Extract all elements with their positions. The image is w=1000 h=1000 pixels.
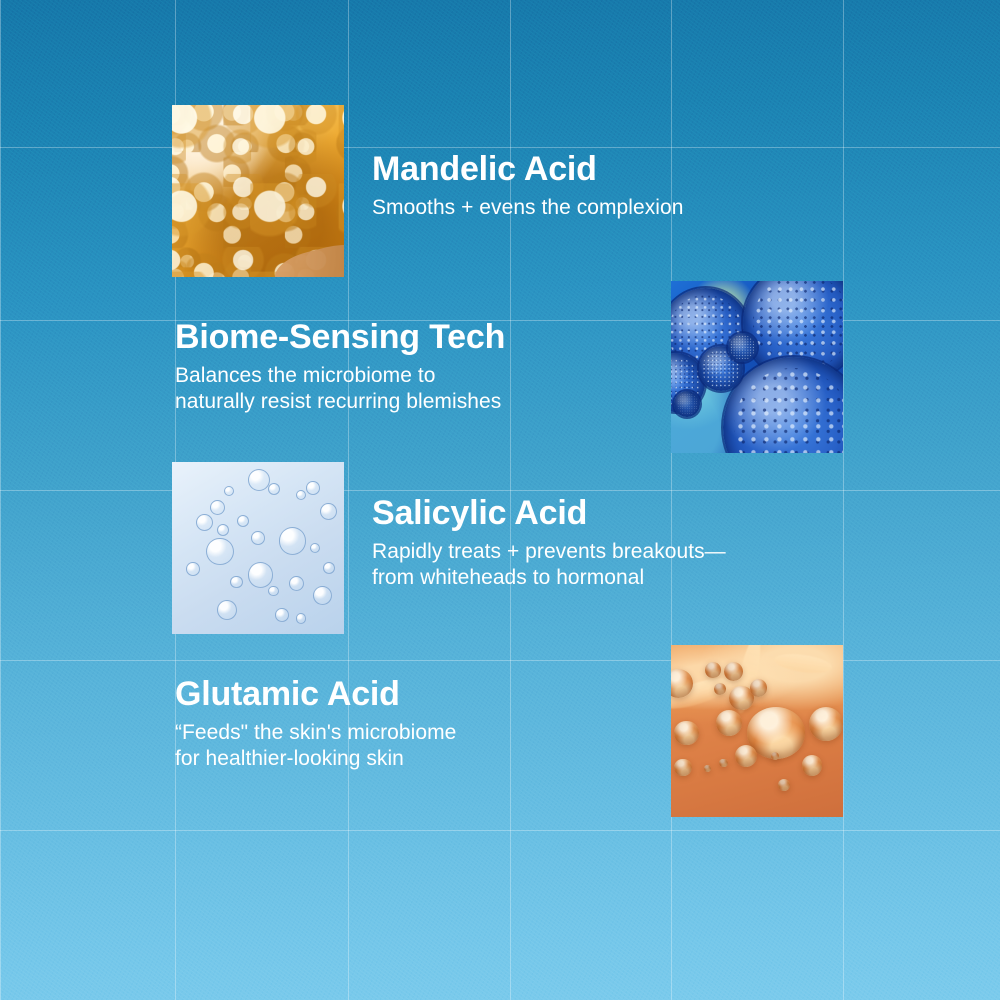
ingredient-text-mandelic-acid: Mandelic Acid Smooths + evens the comple… xyxy=(372,152,683,221)
orange-oil-droplets-image xyxy=(671,645,843,817)
description-line: Balances the microbiome to xyxy=(175,363,505,389)
grid-vertical-line xyxy=(843,0,844,1000)
ingredient-title: Biome-Sensing Tech xyxy=(175,320,505,354)
ingredient-title: Salicylic Acid xyxy=(372,496,726,530)
ingredient-title: Glutamic Acid xyxy=(175,677,456,711)
yellow-beads-texture-image xyxy=(172,105,344,277)
grid-horizontal-line xyxy=(0,490,1000,491)
water-bubbles-image xyxy=(172,462,344,634)
grid-vertical-line xyxy=(0,0,1,1000)
grid-horizontal-line xyxy=(0,660,1000,661)
ingredient-description: “Feeds" the skin's microbiome for health… xyxy=(175,720,456,771)
description-line: Smooths + evens the complexion xyxy=(372,195,683,221)
description-line: “Feeds" the skin's microbiome xyxy=(175,720,456,746)
ingredient-text-salicylic-acid: Salicylic Acid Rapidly treats + prevents… xyxy=(372,496,726,590)
grid-vertical-line xyxy=(348,0,349,1000)
ingredient-text-biome-sensing-tech: Biome-Sensing Tech Balances the microbio… xyxy=(175,320,505,414)
description-line: Rapidly treats + prevents breakouts— xyxy=(372,539,726,565)
blue-microbe-bubbles-image xyxy=(671,281,843,453)
grid-horizontal-line xyxy=(0,830,1000,831)
ingredient-title: Mandelic Acid xyxy=(372,152,683,186)
ingredient-description: Balances the microbiome to naturally res… xyxy=(175,363,505,414)
description-line: naturally resist recurring blemishes xyxy=(175,389,505,415)
ingredient-description: Rapidly treats + prevents breakouts— fro… xyxy=(372,539,726,590)
description-line: for healthier-looking skin xyxy=(175,746,456,772)
ingredient-text-glutamic-acid: Glutamic Acid “Feeds" the skin's microbi… xyxy=(175,677,456,771)
description-line: from whiteheads to hormonal xyxy=(372,565,726,591)
ingredient-description: Smooths + evens the complexion xyxy=(372,195,683,221)
grid-horizontal-line xyxy=(0,147,1000,148)
